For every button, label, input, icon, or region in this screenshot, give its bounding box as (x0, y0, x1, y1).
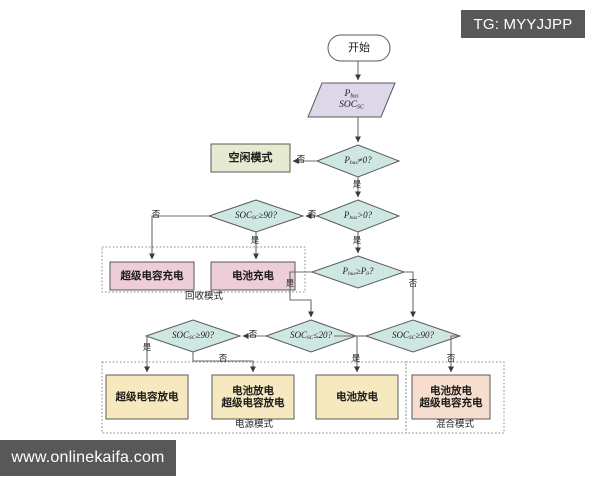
watermark-url: www.onlinekaifa.com (0, 440, 176, 476)
decision-pbus-ne0-shape (317, 145, 399, 177)
decision-pbus-ge-p0-shape (312, 256, 404, 288)
node-io-shape (308, 83, 395, 117)
node-batt-discharge-shape (316, 375, 398, 419)
node-sc-discharge-shape (106, 375, 188, 419)
node-batt-sc-discharge-shape (212, 375, 294, 419)
flowchart-svg (0, 0, 600, 480)
decision-soc-ge90-left-shape (146, 320, 240, 352)
node-batt-dis-sc-chg-shape (412, 375, 490, 419)
node-batt-charge-shape (211, 262, 295, 290)
node-sc-charge-shape (110, 262, 194, 290)
decision-soc-ge90-top-shape (209, 200, 303, 232)
edge-soc90right-no-to-hybrid (451, 336, 460, 372)
watermark-tag: TG: MYYJJPP (461, 10, 585, 38)
decision-pbus-gt0-shape (317, 200, 399, 232)
edge-soc90left-yes-to-scdis (146, 336, 147, 372)
edge-soc90-no-to-sccharge (152, 216, 209, 259)
node-idle-shape (211, 144, 290, 172)
flowchart-canvas: 开始 Pbus SOCSC 空闲模式 Pbus≠0? Pbus>0? SOCSC… (0, 0, 600, 480)
edge-d3-no-to-soc90right (404, 272, 413, 317)
node-start-shape (328, 35, 390, 61)
decision-soc-ge90-right-shape (366, 320, 460, 352)
